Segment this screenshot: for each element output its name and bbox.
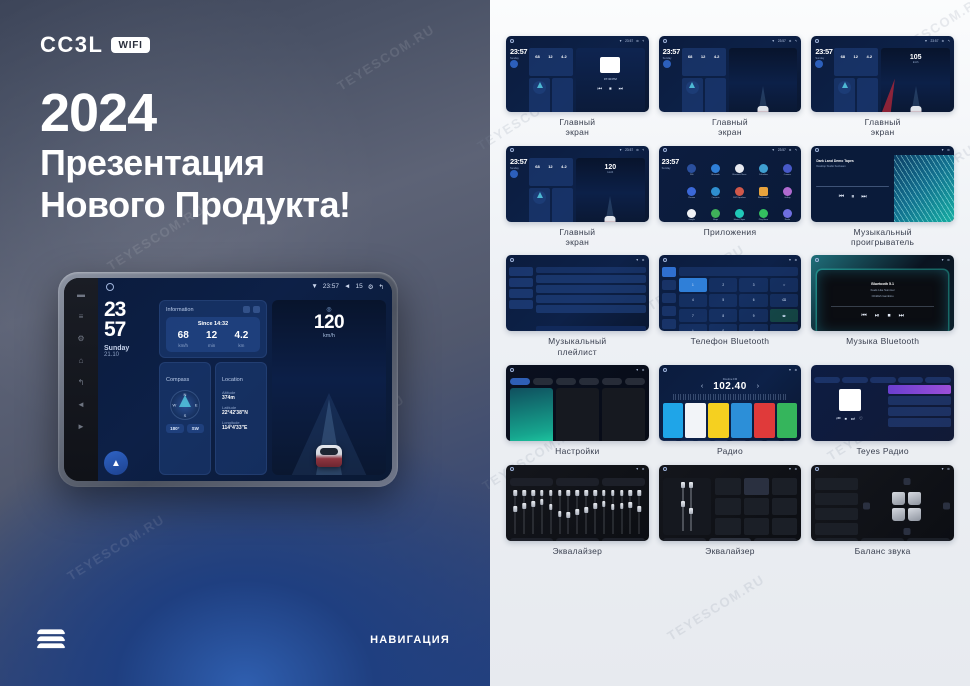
gallery-icon <box>783 187 792 196</box>
app-icon-item: Music Player <box>729 205 751 222</box>
prev-icon: ⏮ <box>837 416 841 422</box>
information-card: 68 12 4.2 <box>529 48 573 76</box>
eq-band-knob[interactable] <box>584 507 588 513</box>
stop-icon: ⏹ <box>888 313 891 320</box>
thumbnail-caption: Эквалайзер <box>705 546 755 556</box>
preset-button <box>715 498 740 515</box>
home-icon <box>510 39 514 43</box>
longitude-row: Longitude 114°4'33"E <box>222 420 260 431</box>
eq-band <box>609 490 616 534</box>
thumbnail-caption: Телефон Bluetooth <box>691 336 770 346</box>
dial-key: 4 <box>679 294 707 307</box>
hw-button-mode-icon[interactable]: ≡ <box>77 312 86 321</box>
eq-band-knob[interactable] <box>629 502 633 508</box>
dial-key: 9 <box>739 309 767 322</box>
radio-toolbar <box>663 440 798 441</box>
status-volume: 15 <box>355 283 362 290</box>
thumb-status-bar: ▼⚙ <box>506 365 649 374</box>
eq-band <box>583 490 590 534</box>
thumb-body: Bluetooth 5.1 Feels Like Summer Childish… <box>811 264 954 331</box>
spacer <box>770 324 798 331</box>
cards-column: Information Since 14:32 <box>159 300 267 475</box>
thumb-body <box>506 264 649 331</box>
prev-icon: ⏮ <box>861 313 866 320</box>
compass-card <box>834 78 855 112</box>
dial-key: 6 <box>739 294 767 307</box>
back-icon[interactable]: ↰ <box>379 283 384 291</box>
gear-icon: ⚙ <box>947 258 950 262</box>
app-icon-item: Chrome <box>681 182 703 203</box>
thumb-hours: 23:57 <box>815 48 831 55</box>
arrow-down-icon <box>903 528 910 535</box>
more-card <box>602 388 645 441</box>
thumb-status-bar: ▼ 23:57 ⚙↰ <box>506 146 649 155</box>
app-icon-item: Radio <box>776 205 798 222</box>
gallery-item[interactable]: ▼ 23:57 ⚙↰ 23:57 Sunday <box>811 36 954 138</box>
compass-n: N <box>184 392 187 397</box>
thumbnail-home-music[interactable]: ▼ 23:57 ⚙↰ 23:57 Sunday <box>506 36 649 112</box>
wifi-icon <box>687 164 696 173</box>
home-screen-body: 23 57 Sunday 21.10 ▲ Information <box>98 295 392 481</box>
information-card: 68 12 4.2 <box>682 48 726 76</box>
watermark: TEYESCOM.RU <box>65 512 168 584</box>
app-icon-item: Bluetooth <box>705 160 727 181</box>
equalizer-header <box>510 478 645 486</box>
wifi-icon: ▼ <box>619 148 622 152</box>
hotspot-card <box>556 388 599 441</box>
wifi-icon: ▼ <box>636 467 639 471</box>
thumbnail-caption: Радио <box>717 446 743 456</box>
stat-value: 68 <box>535 54 539 59</box>
gallery-item[interactable]: ▼ 23:57 ⚙↰ 23:57 Sunday Wifi Bluetooth B… <box>659 146 802 248</box>
stop-icon: ⏹ <box>845 416 847 422</box>
tone-slider-knob[interactable] <box>689 508 693 514</box>
hw-button-back-icon[interactable]: ↰ <box>77 378 86 387</box>
station-list <box>888 385 951 441</box>
gear-icon: ⚙ <box>642 467 645 471</box>
compass-card-title: Compass <box>166 377 189 383</box>
contacts-icon <box>711 187 720 196</box>
gallery-item[interactable]: ⏮ ⏹ ⏭ ♡ <box>811 365 954 456</box>
thumb-speed-unit: km/h <box>576 171 645 174</box>
thumbnail-apps[interactable]: ▼ 23:57 ⚙↰ 23:57 Sunday Wifi Bluetooth B… <box>659 146 802 222</box>
longitude-value: 114°4'33"E <box>222 425 260 431</box>
thumbnail-caption: Музыкальныйплейлист <box>548 336 606 357</box>
location-card <box>857 78 878 112</box>
thumbnail-caption: Главныйэкран <box>559 117 595 138</box>
stat-value: 4.2 <box>561 164 567 169</box>
stat-value: 68 <box>841 54 845 59</box>
app-icon-item: Google <box>681 205 703 222</box>
eq-band-knob[interactable] <box>540 499 544 505</box>
station-item <box>888 385 951 394</box>
compass-dial: N E S W <box>170 390 200 420</box>
playlist-sidebar <box>509 267 533 331</box>
thumbnail-sound-balance[interactable]: ▼⚙ <box>811 465 954 541</box>
gallery-item[interactable]: ▼⚙ 1 2 3 ☆ 4 <box>659 255 802 357</box>
bluetooth-version-label: Bluetooth 5.1 <box>817 270 948 286</box>
settings-tab <box>579 378 599 385</box>
dial-key: 5 <box>709 294 737 307</box>
back-icon: ↰ <box>795 148 798 152</box>
play-pause-icon: ⏯ <box>875 313 880 320</box>
bluetooth-icon <box>711 164 720 173</box>
headline-year: 2024 <box>40 85 351 142</box>
thumbnail-bluetooth-phone[interactable]: ▼⚙ 1 2 3 ☆ 4 <box>659 255 802 331</box>
stat-value: 12 <box>548 54 552 59</box>
thumbnail-home-speed-warning[interactable]: ▼ 23:57 ⚙↰ 23:57 Sunday <box>811 36 954 112</box>
eq-band <box>521 490 528 534</box>
equalizer-toolbar <box>663 538 798 541</box>
thumbnail-caption: Главныйэкран <box>712 117 748 138</box>
thumb-day: Sunday <box>510 57 526 60</box>
settings-tab <box>625 378 645 385</box>
stat-value: 68 <box>535 164 539 169</box>
stat-value: 4.2 <box>561 54 567 59</box>
preset-button <box>744 478 769 495</box>
location-card-title: Location <box>222 377 243 383</box>
screenshot-gallery-panel: TEYESCOM.RU TEYESCOM.RU TEYESCOM.RU TEYE… <box>490 0 970 686</box>
wifi-icon: ▼ <box>924 39 927 43</box>
compass-w: W <box>173 403 177 408</box>
thumb-status-bar: ▼⚙ <box>659 365 802 374</box>
equalizer-band-sliders <box>510 486 645 538</box>
app-icon-item: Gallery <box>776 182 798 203</box>
gear-icon: ⚙ <box>642 368 645 372</box>
thumb-body: ⏮ ⏹ ⏭ ♡ <box>811 374 954 441</box>
tone-slider-knob[interactable] <box>681 501 685 507</box>
navigation-button <box>663 60 671 68</box>
eq-band-knob[interactable] <box>593 503 597 509</box>
thumbnail-caption: Teyes Радио <box>856 446 908 456</box>
thumb-body: 23:57 Sunday 68 12 4.2 <box>506 45 649 112</box>
dial-key: 8 <box>709 309 737 322</box>
arrow-right-icon <box>943 503 950 510</box>
frequency-scale <box>673 394 788 400</box>
navigation-button <box>510 170 518 178</box>
google-icon <box>687 209 696 218</box>
next-icon: ⏭ <box>861 194 866 201</box>
clock-column: 23 57 Sunday 21.10 ▲ <box>104 300 154 475</box>
compass-card <box>529 78 550 112</box>
home-icon <box>815 148 819 152</box>
home-icon <box>815 258 819 262</box>
preset-grid <box>715 478 797 535</box>
thumb-body <box>506 374 649 441</box>
speed-unit: km/h <box>272 333 386 339</box>
arrow-left-icon <box>863 503 870 510</box>
track-title: Dark Land Demo Tapes <box>816 159 889 163</box>
logo-text: CC3L <box>40 32 103 58</box>
radio-frequency: 102.40 <box>713 381 747 392</box>
media-widget <box>729 48 798 112</box>
eq-band-knob[interactable] <box>558 511 562 517</box>
clock-day: Sunday <box>104 345 154 352</box>
gallery-item[interactable]: ▼⚙ <box>506 465 649 556</box>
station-item <box>888 407 951 416</box>
wifi-icon: ▼ <box>311 283 317 290</box>
eq-band-knob[interactable] <box>620 503 624 509</box>
eq-band-knob[interactable] <box>637 506 641 512</box>
seat-icon <box>892 508 905 521</box>
balance-presets <box>815 478 858 535</box>
compass-card[interactable]: Compass N E S W <box>159 362 211 475</box>
thumbnail-bluetooth-music[interactable]: ▼⚙ Bluetooth 5.1 Feels Like Summer Child… <box>811 255 954 331</box>
home-icon <box>663 39 667 43</box>
eq-band <box>600 490 607 534</box>
preset-button <box>772 478 797 495</box>
wifi-icon: ▼ <box>788 467 791 471</box>
stat-value: 12 <box>206 331 217 341</box>
music-player-icon <box>735 209 744 218</box>
head-unit-screen[interactable]: ▼ 23:57 ◄ 15 ⚙ ↰ 23 57 Sunday <box>98 278 392 481</box>
visualizer <box>894 155 954 222</box>
watermark: TEYESCOM.RU <box>665 572 768 644</box>
thumb-day: Sunday <box>663 57 679 60</box>
seat-icon <box>892 492 905 505</box>
watermark: TEYESCOM.RU <box>335 22 438 94</box>
calculator-icon <box>759 164 768 173</box>
next-icon: ⏭ <box>899 313 904 320</box>
thumb-time: 23:57 <box>625 148 633 152</box>
teyes-radio-tabs <box>814 377 951 383</box>
filemanager-icon <box>759 187 768 196</box>
hw-button-settings-icon[interactable]: ⚙ <box>77 334 86 343</box>
headline-line-1: Презентация <box>40 142 351 184</box>
compass-card <box>529 188 550 222</box>
eq-band <box>512 490 519 534</box>
eq-band-knob[interactable] <box>576 509 580 515</box>
seat-balance-pad <box>863 478 950 535</box>
gallery-item[interactable]: ▼⚙ Музыкальныйплейлист <box>506 255 649 357</box>
head-unit-inner: ▬ ≡ ⚙ ⌂ ↰ ◄ ► ▼ 23:57 <box>64 278 392 481</box>
location-card <box>552 78 573 112</box>
refresh-icon[interactable] <box>243 306 250 313</box>
gallery-item[interactable]: ▼⚙ Bluetooth 5.1 Feels Like Summer Child… <box>811 255 954 357</box>
thumbnail-playlist[interactable]: ▼⚙ <box>506 255 649 331</box>
thumb-status-bar: ▼⚙ <box>811 146 954 155</box>
eq-band-knob[interactable] <box>611 504 615 510</box>
home-icon <box>510 467 514 471</box>
thumb-body: 23:57 Sunday 68 12 4.2 <box>811 45 954 112</box>
gallery-item[interactable]: ▼⚙ <box>659 465 802 556</box>
thumbnail-caption: Музыкальныйпроигрыватель <box>851 227 914 248</box>
settings-tab <box>556 378 576 385</box>
arrow-up-icon <box>903 478 910 485</box>
wifi-icon: ▼ <box>941 148 944 152</box>
station-presets <box>663 403 798 438</box>
preset-button <box>744 518 769 535</box>
gear-icon: ⚙ <box>789 39 792 43</box>
back-icon: ↰ <box>642 39 645 43</box>
pause-icon: ⏸ <box>851 194 854 201</box>
chrome-icon <box>687 187 696 196</box>
location-card <box>705 78 726 112</box>
thumb-speed-unit: km/h <box>881 61 950 64</box>
thumb-body: 23:57 Sunday 68 12 4.2 <box>506 155 649 222</box>
dial-key: * <box>679 324 707 331</box>
clock-date: 21.10 <box>104 352 154 358</box>
gallery-item[interactable]: ▼⚙ Dark Land Demo Tapes Desktop Studio S… <box>811 146 954 248</box>
wifi-icon: ▼ <box>636 368 639 372</box>
navigation-button[interactable]: ▲ <box>104 451 128 475</box>
preset-button <box>715 478 740 495</box>
product-logo: CC3L WIFI <box>40 32 150 58</box>
compass-e: E <box>195 403 198 408</box>
thumbnail-equalizer-bands[interactable]: ▼⚙ <box>506 465 649 541</box>
speed-panel[interactable]: ◎ 120 km/h <box>272 300 386 475</box>
eq-band-knob[interactable] <box>549 504 553 510</box>
thumb-day: Sunday <box>815 57 831 60</box>
gallery-item[interactable]: ▼⚙ Routine FM ‹ 102.40 › <box>659 365 802 456</box>
gallery-item[interactable]: ▼⚙ <box>811 465 954 556</box>
thumbnail-equalizer-presets[interactable]: ▼⚙ <box>659 465 802 541</box>
tone-sliders <box>663 478 711 535</box>
dial-key: # <box>739 324 767 331</box>
eq-band <box>618 490 625 534</box>
maps-icon <box>711 209 720 218</box>
information-card[interactable]: Information Since 14:32 <box>159 300 267 358</box>
music-widget: 07:30 PM ⏮ ⏹ ⏭ <box>576 48 645 112</box>
preset-station <box>708 403 729 438</box>
next-station-icon: › <box>757 383 759 390</box>
lane-warning-icon <box>881 77 900 112</box>
thumbnail-caption: Эквалайзер <box>552 546 602 556</box>
app-icon-item: Camera <box>776 160 798 181</box>
eq-band-knob[interactable] <box>602 501 606 507</box>
thumbnail-caption: Главныйэкран <box>865 117 901 138</box>
eq-band-knob[interactable] <box>567 512 571 518</box>
wifi-icon: ▼ <box>636 258 639 262</box>
information-card-title: Information <box>166 307 194 313</box>
app-icon-item: Play Store <box>752 205 774 222</box>
compass-card <box>682 78 703 112</box>
thumb-status-bar: ▼⚙ <box>506 255 649 264</box>
hero-panel: TEYESCOM.RU TEYESCOM.RU TEYESCOM.RU TEYE… <box>0 0 490 686</box>
stat-item: 12 min <box>206 331 217 348</box>
eq-band-knob[interactable] <box>531 501 535 507</box>
eq-band <box>547 490 554 534</box>
thumbnail-music-player[interactable]: ▼⚙ Dark Land Demo Tapes Desktop Studio S… <box>811 146 954 222</box>
thumbnail-settings[interactable]: ▼⚙ <box>506 365 649 441</box>
hero-headline: 2024 Презентация Нового Продукта! <box>40 85 351 227</box>
altitude-row: Altitude 374m <box>222 390 260 401</box>
balance-toolbar <box>815 538 950 541</box>
stat-unit: min <box>206 343 217 348</box>
dial-input <box>679 267 799 276</box>
status-bar: ▼ 23:57 ◄ 15 ⚙ ↰ <box>98 278 392 295</box>
stat-item: 4.2 km <box>234 331 248 348</box>
home-icon <box>510 258 514 262</box>
compass-heading: 180° <box>166 424 184 433</box>
thumb-status-bar: ▼ 23:57 ⚙↰ <box>811 36 954 45</box>
stat-value: 12 <box>701 54 705 59</box>
track-artist: Desktop Studio Sunbeam <box>816 165 889 168</box>
gear-icon[interactable]: ⚙ <box>368 283 374 291</box>
stat-value: 68 <box>178 331 189 341</box>
gallery-item[interactable]: ▼ 23:57 ⚙↰ 23:57 Sunday <box>506 36 649 138</box>
wifi-icon: ▼ <box>772 148 775 152</box>
settings-tab <box>533 378 553 385</box>
altitude-value: 374m <box>222 395 260 401</box>
eq-band-knob[interactable] <box>523 503 527 509</box>
hw-button-volume-up-icon[interactable]: ► <box>77 422 86 431</box>
preset-button <box>744 498 769 515</box>
hw-button-power-icon[interactable]: ▬ <box>77 290 86 299</box>
next-icon: ⏭ <box>619 86 624 92</box>
speed-value: 120 <box>272 313 386 332</box>
eq-band <box>556 490 563 534</box>
gallery-item[interactable]: ▼⚙ <box>506 365 649 456</box>
gallery-item[interactable]: ▼ 23:57 ⚙↰ 23:57 Sunday <box>506 146 649 248</box>
home-icon[interactable] <box>106 283 114 291</box>
information-card: 68 12 4.2 <box>529 158 573 186</box>
gear-icon: ⚙ <box>794 368 797 372</box>
thumbnail-home-speed[interactable]: ▼ 23:57 ⚙↰ 23:57 Sunday <box>506 146 649 222</box>
gear-icon: ⚙ <box>947 148 950 152</box>
hardware-button-strip[interactable]: ▬ ≡ ⚙ ⌂ ↰ ◄ ► <box>64 278 98 481</box>
thumb-status-bar: ▼⚙ <box>811 255 954 264</box>
gear-icon: ⚙ <box>941 39 944 43</box>
home-icon <box>663 148 667 152</box>
thumb-body: 23:57 Sunday 68 12 4.2 <box>659 45 802 112</box>
stat-value: 4.2 <box>714 54 720 59</box>
wifi-badge: WIFI <box>111 37 149 53</box>
thumb-speed-value: 120 <box>576 164 645 171</box>
dial-key: 1 <box>679 278 707 291</box>
gallery-item[interactable]: ▼ 23:57 ⚙↰ 23:57 Sunday <box>659 36 802 138</box>
thumbnail-grid: ▼ 23:57 ⚙↰ 23:57 Sunday <box>506 36 954 556</box>
information-card: 68 12 4.2 <box>834 48 878 76</box>
home-icon <box>815 39 819 43</box>
app-icon-item: Calculator <box>752 160 774 181</box>
eq-band-knob[interactable] <box>514 506 518 512</box>
thumb-speed-value: 105 <box>881 54 950 61</box>
gear-icon: ⚙ <box>636 148 639 152</box>
seat-icon <box>908 508 921 521</box>
dial-key: 7 <box>679 309 707 322</box>
album-art <box>839 389 861 411</box>
thumb-body <box>659 474 802 541</box>
head-unit-device: ▬ ≡ ⚙ ⌂ ↰ ◄ ► ▼ 23:57 <box>58 272 398 487</box>
thumb-body <box>506 474 649 541</box>
back-icon: ↰ <box>642 148 645 152</box>
thumbnail-caption: Приложения <box>704 227 757 237</box>
location-card[interactable]: Location Altitude 374m Latitude 22°42'38… <box>215 362 267 475</box>
presentation-page: TEYESCOM.RU TEYESCOM.RU TEYESCOM.RU TEYE… <box>0 0 970 686</box>
wifi-icon: ▼ <box>772 39 775 43</box>
thumbnail-home-media[interactable]: ▼ 23:57 ⚙↰ 23:57 Sunday <box>659 36 802 112</box>
next-icon: ⏭ <box>851 416 855 422</box>
gear-icon: ⚙ <box>789 148 792 152</box>
prev-icon: ⏮ <box>598 86 603 92</box>
thumbnail-radio[interactable]: ▼⚙ Routine FM ‹ 102.40 › <box>659 365 802 441</box>
bluetooth-music-icon <box>735 164 744 173</box>
thumb-status-bar: ▼ 23:57 ⚙↰ <box>659 36 802 45</box>
backspace-icon: ⌫ <box>770 294 798 307</box>
eq-band <box>636 490 643 534</box>
thumbnail-teyes-radio[interactable]: ⏮ ⏹ ⏭ ♡ <box>811 365 954 441</box>
hw-button-volume-down-icon[interactable]: ◄ <box>77 400 86 409</box>
thumbnail-caption: Музыка Bluetooth <box>846 336 919 346</box>
expand-icon[interactable] <box>253 306 260 313</box>
preset-station <box>731 403 752 438</box>
hw-button-home-icon[interactable]: ⌂ <box>77 356 86 365</box>
settings-tab <box>602 378 622 385</box>
prev-station-icon: ‹ <box>701 383 703 390</box>
track-artist: Childish Gambino <box>817 294 948 298</box>
preset-button <box>772 518 797 535</box>
